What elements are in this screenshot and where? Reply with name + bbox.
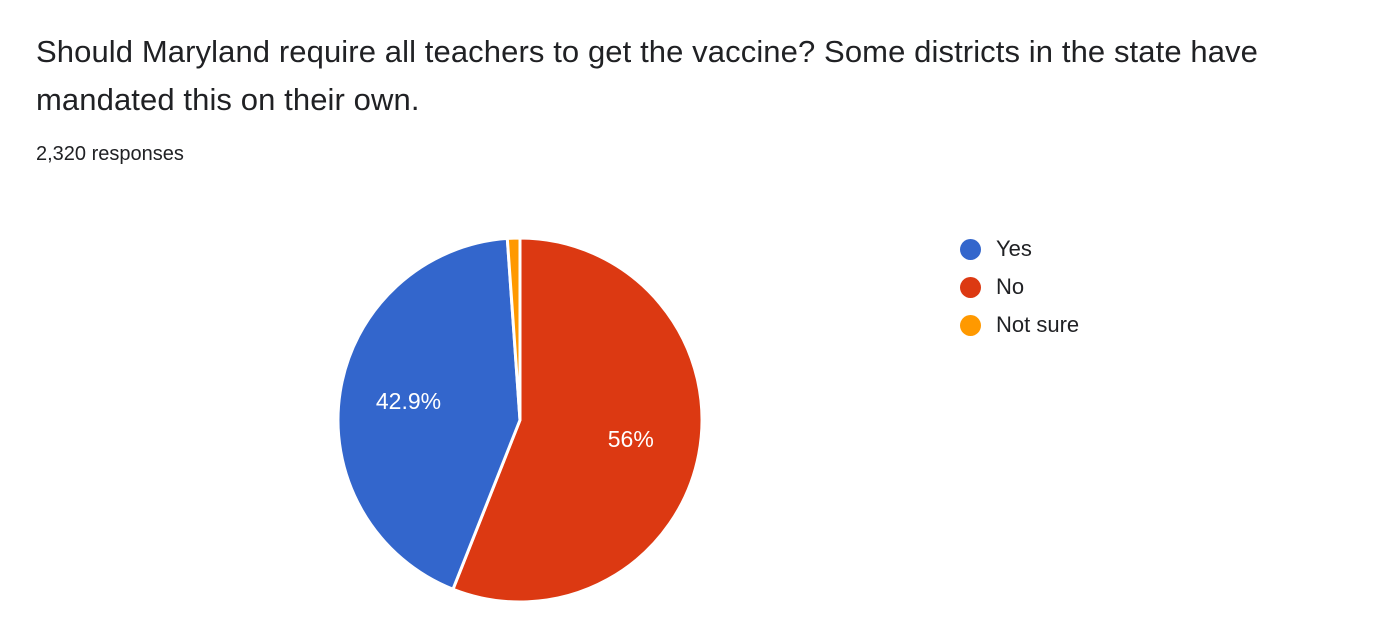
pie-slice-label: 42.9% <box>376 388 441 414</box>
pie-slice-group <box>338 238 702 602</box>
legend-swatch-icon-not-sure <box>960 315 981 336</box>
page-title: Should Maryland require all teachers to … <box>36 28 1336 124</box>
legend-swatch-icon-yes <box>960 239 981 260</box>
legend-label-yes: Yes <box>996 236 1032 262</box>
chart-legend: Yes No Not sure <box>960 230 1290 344</box>
legend-item-yes[interactable]: Yes <box>960 230 1290 268</box>
legend-item-not-sure[interactable]: Not sure <box>960 306 1290 344</box>
pie-chart-svg: 56%42.9% <box>330 230 710 610</box>
legend-label-no: No <box>996 274 1024 300</box>
pie-chart: 56%42.9% <box>330 230 710 610</box>
pie-slice-label: 56% <box>608 426 654 452</box>
legend-swatch-icon-no <box>960 277 981 298</box>
legend-label-not-sure: Not sure <box>996 312 1079 338</box>
response-count-label: 2,320 responses <box>36 140 184 168</box>
pie-chart-region: 56%42.9% Yes No Not sure <box>0 190 1380 642</box>
legend-item-no[interactable]: No <box>960 268 1290 306</box>
